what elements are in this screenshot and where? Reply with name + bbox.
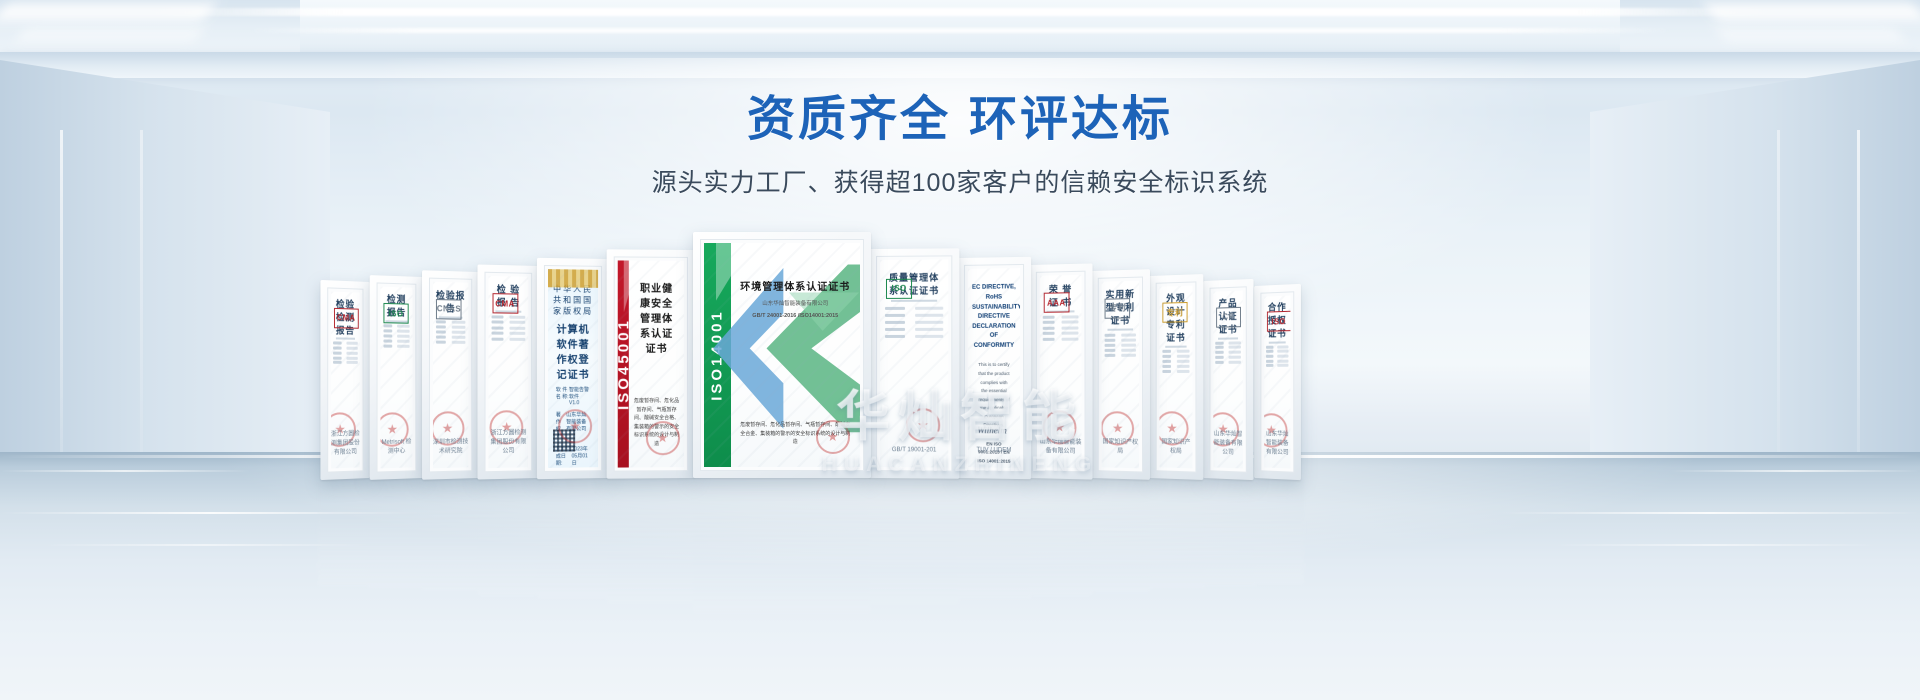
certificate-divider bbox=[1218, 337, 1238, 339]
certificate-mat: ISO 检测报告 Metrisoft 检测中心 bbox=[377, 282, 417, 472]
certificate-field-list bbox=[1162, 350, 1190, 373]
certificate-frame[interactable]: CMA 检 验 报 告 浙江方圆检测集团股份有限公司 bbox=[477, 264, 539, 479]
certificate-reflection bbox=[957, 478, 1031, 599]
certificate-field-row bbox=[1266, 345, 1288, 348]
certificate-field-row: 软 件 名 称:智能告警软件 V1.0 bbox=[556, 386, 591, 406]
certificate-generic-body: AAA 荣 誉 证 书 山东华灿智能装备有限公司 bbox=[1040, 275, 1082, 468]
certificate-field-row bbox=[383, 339, 410, 342]
certificate-mat: CMA 检验检测报告 浙江方圆检测集团股份有限公司 bbox=[327, 287, 363, 472]
certificate-field-row bbox=[885, 328, 942, 331]
certificate-software-copyright-body: 中华人民共和国国家版权局 计算机软件著作权登记证书 软 件 名 称:智能告警软件… bbox=[548, 269, 598, 468]
certificate-issuer: TUV / UDEM bbox=[968, 447, 1020, 454]
certificate-mat: CMA 检 验 报 告 浙江方圆检测集团股份有限公司 bbox=[485, 272, 533, 473]
banner-stage: 资质齐全环评达标 源头实力工厂、获得超100家客户的信赖安全标识系统 CMA 检… bbox=[0, 0, 1920, 700]
certificate-iso-body: ISO14001 环境管理体系认证证书 山东华灿智能装备有限公司 GB/T 24… bbox=[704, 243, 860, 467]
certificate-field-row bbox=[383, 324, 410, 328]
certificate-field-row bbox=[333, 342, 357, 345]
certificate-badge: CMA bbox=[334, 308, 359, 329]
certificate-frame[interactable]: CNAS 检验报告 深圳市检测技术研究院 bbox=[422, 270, 479, 479]
certificate-generic-body: CE 产品认证证书 山东华灿智能装备有限公司 bbox=[1213, 291, 1243, 469]
ceiling-panel bbox=[0, 0, 1920, 70]
certificate-footer: 浙江方圆检测集团股份有限公司 bbox=[489, 427, 529, 455]
certificate-company: 山东华灿智能装备有限公司 bbox=[739, 299, 852, 307]
certificate-field-row bbox=[1043, 332, 1078, 335]
certificate-generic-body: ISO 检测报告 Metrisoft 检测中心 bbox=[381, 287, 413, 469]
certificate-reflection bbox=[477, 478, 539, 595]
certificate-field-row bbox=[1266, 364, 1288, 367]
certificate-generic-body: ISO 合作授权证书 山东华灿智能装备有限公司 bbox=[1264, 296, 1290, 469]
certificate-field-row bbox=[1162, 370, 1190, 373]
certificate-generic-body: 专利 实用新型专利证书 国家知识产权局 bbox=[1102, 281, 1139, 469]
certificate-field-row bbox=[492, 326, 525, 329]
certificate-footer: GB/T 19001-201 bbox=[880, 447, 948, 453]
certificate-footer: Metrisoft 检测中心 bbox=[381, 437, 413, 456]
certificate-field-row bbox=[1043, 315, 1078, 318]
certificate-field-row bbox=[1162, 360, 1190, 363]
certificate-badge: 专利 bbox=[1105, 298, 1131, 319]
certificate-field-row bbox=[885, 335, 942, 338]
certificate-frame[interactable]: ISO 检测报告 Metrisoft 检测中心 bbox=[370, 275, 423, 480]
certificate-field-row bbox=[1162, 350, 1190, 353]
ceiling-lamp-left-1 bbox=[0, 4, 215, 20]
certificate-generic-body: 专利 外观设计专利证书 国家知识产权局 bbox=[1160, 286, 1193, 469]
certificate-badge: CMA bbox=[492, 293, 518, 314]
certificate-signature: Wilhelm bbox=[977, 426, 1007, 436]
certificate-divider bbox=[891, 300, 937, 302]
certificate-footer: 国家知识产权局 bbox=[1160, 437, 1193, 456]
certificate-mat: AAA 荣 誉 证 书 山东华灿智能装备有限公司 bbox=[1036, 271, 1086, 473]
cert-software-copyright[interactable]: 中华人民共和国国家版权局 计算机软件著作权登记证书 软 件 名 称:智能告警软件… bbox=[548, 269, 598, 468]
certificate-field-row bbox=[492, 316, 525, 319]
certificate-badge: 专利 bbox=[1162, 302, 1187, 323]
certificate-standard: GB/T 24001-2016 /ISO14001:2015 bbox=[739, 313, 852, 319]
certificate-seal-icon bbox=[906, 408, 940, 442]
certificate-field-list bbox=[1266, 345, 1288, 367]
certificate-field-row bbox=[1216, 341, 1241, 344]
certificate-field-row bbox=[1043, 321, 1078, 324]
ceiling-lamp-left-2 bbox=[17, 30, 203, 40]
certificate-ribbon: ISO45001 bbox=[618, 260, 629, 467]
certificate-reflection bbox=[607, 478, 695, 603]
ceiling-light-strip-2 bbox=[250, 28, 1670, 33]
certificate-mat: ISO 质量管理体系认证证书 GB/T 19001-201 bbox=[876, 255, 952, 471]
certificate-footer: 深圳市检测技术研究院 bbox=[433, 436, 468, 455]
certificate-issuer-line: 中华人民共和国国家版权局 bbox=[552, 283, 594, 317]
certificate-field-row bbox=[885, 314, 942, 317]
cert-cma-detection[interactable]: CMA 检 验 报 告 浙江方圆检测集团股份有限公司 bbox=[489, 276, 529, 468]
certificate-title: 环境管理体系认证证书 bbox=[739, 278, 852, 293]
ceiling-bevel bbox=[0, 52, 1920, 78]
banner-headings: 资质齐全环评达标 源头实力工厂、获得超100家客户的信赖安全标识系统 bbox=[0, 92, 1920, 199]
certificate-field-row bbox=[436, 336, 466, 339]
certificate-field-row bbox=[1105, 333, 1136, 336]
certificate-field-row bbox=[383, 334, 410, 337]
certificate-seal-icon bbox=[558, 409, 592, 443]
certificate-reflection bbox=[1203, 478, 1256, 586]
certificate-field-row bbox=[1105, 349, 1136, 352]
certificate-badge: CE bbox=[1216, 307, 1241, 328]
certificate-mat: CE 产品认证证书 山东华灿智能装备有限公司 bbox=[1210, 286, 1247, 472]
certificate-field-row bbox=[885, 307, 942, 310]
certificate-generic-body: CMA 检 验 报 告 浙江方圆检测集团股份有限公司 bbox=[489, 276, 529, 468]
page-title-part1: 资质齐全 bbox=[747, 93, 951, 146]
certificate-badge: CNAS bbox=[436, 299, 462, 320]
certificate-reflection bbox=[368, 478, 423, 589]
certificate-wall: CMA 检验检测报告 浙江方圆检测集团股份有限公司 ISO 检测报告 Metri… bbox=[0, 228, 1920, 478]
certificate-generic-body: ISO 质量管理体系认证证书 GB/T 19001-201 bbox=[880, 259, 948, 467]
certificate-field-list bbox=[383, 324, 410, 347]
certificate-field-row bbox=[1216, 356, 1241, 359]
certificate-field-row bbox=[1043, 337, 1078, 340]
certificate-field-row bbox=[436, 320, 466, 323]
certificate-field-row bbox=[492, 332, 525, 335]
certificate-divider bbox=[1268, 341, 1286, 343]
cert-patent-01[interactable]: 专利 实用新型专利证书 国家知识产权局 bbox=[1102, 281, 1139, 469]
certificate-ce-body: EC DIRECTIVE, RoHSSUSTAINABILITY DIRECTI… bbox=[968, 268, 1020, 468]
cert-patent-03[interactable]: CE 产品认证证书 山东华灿智能装备有限公司 bbox=[1213, 291, 1243, 469]
certificate-field-row bbox=[1043, 326, 1078, 329]
certificate-divider bbox=[1165, 346, 1187, 348]
cert-patent-04[interactable]: ISO 合作授权证书 山东华灿智能装备有限公司 bbox=[1264, 296, 1290, 469]
certificate-mat: 专利 实用新型专利证书 国家知识产权局 bbox=[1098, 277, 1143, 473]
certificate-field-row bbox=[1216, 346, 1241, 349]
certificate-reflection bbox=[1029, 478, 1093, 595]
certificate-field-list bbox=[1216, 341, 1241, 364]
certificate-content: 环境管理体系认证证书 山东华灿智能装备有限公司 GB/T 24001-2016 … bbox=[731, 243, 860, 467]
certificate-field-row bbox=[333, 351, 357, 354]
certificate-mat: 中华人民共和国国家版权局 计算机软件著作权登记证书 软 件 名 称:智能告警软件… bbox=[544, 265, 602, 472]
certificate-frame[interactable]: ISO14001 环境管理体系认证证书 山东华灿智能装备有限公司 GB/T 24… bbox=[693, 232, 871, 478]
certificate-generic-body: CNAS 检验报告 深圳市检测技术研究院 bbox=[433, 282, 468, 469]
certificate-field-row bbox=[1266, 359, 1288, 362]
certificate-field-row bbox=[1105, 338, 1136, 341]
certificate-field-row bbox=[492, 337, 525, 340]
certificate-mat: CNAS 检验报告 深圳市检测技术研究院 bbox=[429, 278, 472, 473]
certificate-field-list bbox=[885, 307, 942, 338]
certificate-reflection bbox=[1091, 478, 1151, 592]
certificate-reflections bbox=[0, 478, 1920, 678]
cert-honor-certificate[interactable]: AAA 荣 誉 证 书 山东华灿智能装备有限公司 bbox=[1040, 275, 1082, 468]
certificate-field-value: 智能告警软件 V1.0 bbox=[569, 386, 590, 406]
ceiling-light-strip-1 bbox=[150, 8, 1770, 16]
cert-quality-system[interactable]: ISO 质量管理体系认证证书 GB/T 19001-201 bbox=[880, 259, 948, 467]
cert-cma-zhejiang[interactable]: CMA 检验检测报告 浙江方圆检测集团股份有限公司 bbox=[331, 292, 360, 469]
certificate-reflection bbox=[537, 478, 609, 598]
certificate-reflection bbox=[1149, 478, 1205, 589]
certificate-frame[interactable]: AAA 荣 誉 证 书 山东华灿智能装备有限公司 bbox=[1029, 263, 1093, 479]
page-title-part2: 环评达标 bbox=[969, 93, 1173, 146]
certificate-frame[interactable]: CE 产品认证证书 山东华灿智能装备有限公司 bbox=[1203, 279, 1254, 480]
certificate-field-row bbox=[333, 361, 357, 364]
certificate-mat: ISO 合作授权证书 山东华灿智能装备有限公司 bbox=[1260, 291, 1294, 472]
certificate-reflection bbox=[869, 478, 959, 604]
certificate-title: 职业健康安全管理体系认证证书 bbox=[637, 279, 676, 354]
certificate-divider bbox=[336, 338, 355, 340]
certificate-footer: 山东华灿智能装备有限公司 bbox=[1264, 428, 1290, 456]
certificate-mat: ISO14001 环境管理体系认证证书 山东华灿智能装备有限公司 GB/T 24… bbox=[700, 239, 864, 471]
certificate-frame[interactable]: ISO 合作授权证书 山东华灿智能装备有限公司 bbox=[1254, 284, 1301, 480]
certificate-mat: 专利 外观设计专利证书 国家知识产权局 bbox=[1156, 281, 1197, 472]
certificate-field-label: 软 件 名 称: bbox=[556, 386, 569, 406]
page-title: 资质齐全环评达标 bbox=[0, 92, 1920, 149]
certificate-field-list bbox=[333, 342, 357, 365]
certificate-frame[interactable]: EC DIRECTIVE, RoHSSUSTAINABILITY DIRECTI… bbox=[957, 257, 1031, 479]
certificate-iso-body: ISO45001 职业健康安全管理体系认证证书 危废暂存间、危化品暂存间、气瓶暂… bbox=[618, 260, 684, 467]
certificate-title: 计算机软件著作权登记证书 bbox=[552, 320, 594, 381]
certificate-reflection bbox=[1254, 478, 1304, 584]
certificate-footer: 国家知识产权局 bbox=[1102, 436, 1139, 455]
certificate-generic-body: CMA 检验检测报告 浙江方圆检测集团股份有限公司 bbox=[331, 292, 360, 469]
certificate-field-row bbox=[492, 321, 525, 324]
page-subtitle: 源头实力工厂、获得超100家客户的信赖安全标识系统 bbox=[0, 163, 1920, 199]
certificate-divider bbox=[1108, 328, 1133, 330]
certificate-footer: 山东华灿智能装备有限公司 bbox=[1040, 436, 1082, 455]
certificate-field-row bbox=[1162, 365, 1190, 368]
certificate-field-row bbox=[885, 321, 942, 324]
certificate-field-row bbox=[1216, 361, 1241, 364]
certificate-frame[interactable]: CMA 检验检测报告 浙江方圆检测集团股份有限公司 bbox=[320, 280, 370, 480]
certificate-frame[interactable]: ISO45001 职业健康安全管理体系认证证书 危废暂存间、危化品暂存间、气瓶暂… bbox=[607, 249, 695, 478]
certificate-field-list bbox=[436, 320, 466, 344]
certificate-badge: ISO bbox=[886, 278, 912, 298]
cert-iso14001[interactable]: ISO14001 环境管理体系认证证书 山东华灿智能装备有限公司 GB/T 24… bbox=[704, 243, 860, 467]
cert-ce-rohs[interactable]: EC DIRECTIVE, RoHSSUSTAINABILITY DIRECTI… bbox=[968, 268, 1020, 468]
certificate-top-border bbox=[548, 269, 598, 287]
certificate-frame[interactable]: 专利 实用新型专利证书 国家知识产权局 bbox=[1091, 269, 1150, 480]
certificate-reflection bbox=[693, 478, 871, 613]
certificate-mat: EC DIRECTIVE, RoHSSUSTAINABILITY DIRECTI… bbox=[964, 264, 1024, 472]
certificate-badge: ISO bbox=[383, 303, 408, 324]
certificate-mat: ISO45001 职业健康安全管理体系认证证书 危废暂存间、危化品暂存间、气瓶暂… bbox=[614, 256, 688, 471]
certificate-field-row bbox=[1266, 350, 1288, 353]
certificate-description: This is to certify that the product comp… bbox=[972, 361, 1016, 430]
certificate-field-row bbox=[1105, 354, 1136, 357]
ceiling-lamp-right-1 bbox=[1705, 4, 1920, 20]
certificate-field-row bbox=[333, 356, 357, 359]
cert-inspection-report[interactable]: ISO 检测报告 Metrisoft 检测中心 bbox=[381, 287, 413, 469]
cert-iso45001[interactable]: ISO45001 职业健康安全管理体系认证证书 危废暂存间、危化品暂存间、气瓶暂… bbox=[618, 260, 684, 467]
certificate-reflection bbox=[318, 478, 370, 586]
certificate-content: 职业健康安全管理体系认证证书 危废暂存间、危化品暂存间、气瓶暂存间、酸碱安全合格… bbox=[629, 261, 684, 468]
certificate-field-row bbox=[1162, 355, 1190, 358]
cert-patent-02[interactable]: 专利 外观设计专利证书 国家知识产权局 bbox=[1160, 286, 1193, 469]
certificate-field-row bbox=[436, 331, 466, 334]
certificate-reflection bbox=[421, 478, 479, 591]
certificate-field-row bbox=[383, 344, 410, 347]
certificate-frame[interactable]: 中华人民共和国国家版权局 计算机软件著作权登记证书 软 件 名 称:智能告警软件… bbox=[537, 258, 609, 479]
certificate-field-row bbox=[1216, 351, 1241, 354]
certificate-field-row bbox=[333, 347, 357, 350]
certificate-seal-icon bbox=[816, 420, 850, 454]
certificate-field-row bbox=[436, 325, 466, 328]
certificate-title: EC DIRECTIVE, RoHSSUSTAINABILITY DIRECTI… bbox=[972, 284, 1016, 352]
certificate-field-row bbox=[1105, 344, 1136, 347]
certificate-frame[interactable]: 专利 外观设计专利证书 国家知识产权局 bbox=[1149, 274, 1203, 480]
certificate-field-list bbox=[1105, 333, 1136, 357]
certificate-field-list bbox=[1043, 315, 1078, 340]
certificate-field-row bbox=[436, 341, 466, 344]
certificate-seal-icon bbox=[646, 421, 680, 455]
certificate-footer: 浙江方圆检测集团股份有限公司 bbox=[331, 428, 360, 456]
certificate-badge: AAA bbox=[1043, 292, 1069, 313]
certificate-field-row bbox=[383, 329, 410, 332]
certificate-footer: 山东华灿智能装备有限公司 bbox=[1213, 428, 1243, 456]
certificate-frame[interactable]: ISO 质量管理体系认证证书 GB/T 19001-201 bbox=[869, 248, 959, 478]
ceiling-lamp-right-2 bbox=[1717, 30, 1903, 40]
certificate-field-row bbox=[1266, 355, 1288, 358]
certificate-field-list bbox=[492, 316, 525, 341]
certificate-badge: ISO bbox=[1266, 311, 1290, 332]
cert-shenzhen-report[interactable]: CNAS 检验报告 深圳市检测技术研究院 bbox=[433, 282, 468, 469]
